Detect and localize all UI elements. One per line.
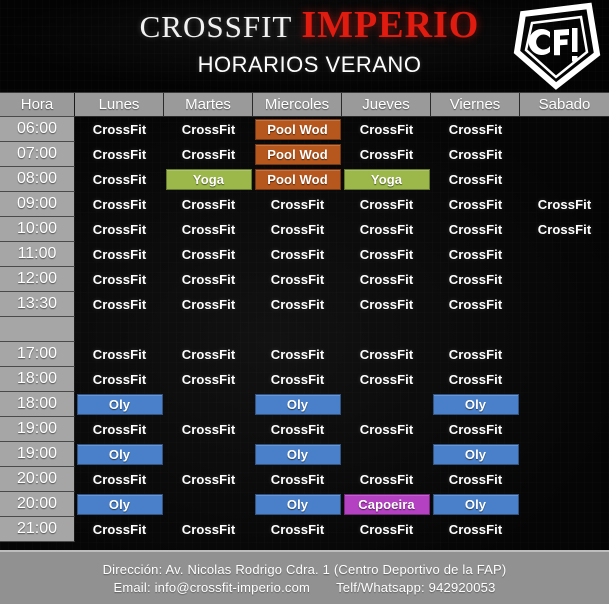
schedule-cell: CrossFit <box>164 417 253 442</box>
schedule-cell: CrossFit <box>253 342 342 367</box>
schedule-cell: Capoeira <box>342 492 431 517</box>
column-header-martes: Martes <box>164 93 253 117</box>
hour-label: 18:00 <box>0 367 75 392</box>
schedule-cell: CrossFit <box>253 267 342 292</box>
schedule-cell: CrossFit <box>342 292 431 317</box>
hour-label: 08:00 <box>0 167 75 192</box>
class-chip-crossfit[interactable]: CrossFit <box>344 419 430 440</box>
class-chip-crossfit[interactable]: CrossFit <box>433 244 519 265</box>
class-chip-crossfit[interactable]: CrossFit <box>166 219 252 240</box>
class-chip-crossfit[interactable]: CrossFit <box>255 519 341 540</box>
class-chip-capoeira[interactable]: Capoeira <box>344 494 430 515</box>
class-chip-crossfit[interactable]: CrossFit <box>255 419 341 440</box>
hour-label: 13:30 <box>0 292 75 317</box>
schedule-cell: CrossFit <box>431 242 520 267</box>
class-chip-oly[interactable]: Oly <box>77 494 163 515</box>
schedule-cell: CrossFit <box>431 367 520 392</box>
schedule-row: 06:00CrossFitCrossFitPool WodCrossFitCro… <box>0 117 609 142</box>
class-chip-crossfit[interactable]: CrossFit <box>344 269 430 290</box>
class-chip-crossfit[interactable]: CrossFit <box>77 369 163 390</box>
class-chip-oly[interactable]: Oly <box>433 394 519 415</box>
schedule-cell <box>164 392 253 417</box>
class-chip-empty <box>77 319 163 340</box>
class-chip-empty <box>344 394 430 415</box>
schedule-cell <box>520 317 609 342</box>
schedule-cell: CrossFit <box>431 267 520 292</box>
schedule-cell: CrossFit <box>75 367 164 392</box>
schedule-cell: CrossFit <box>431 167 520 192</box>
schedule-cell: CrossFit <box>75 192 164 217</box>
class-chip-empty <box>522 169 608 190</box>
schedule-cell: CrossFit <box>164 217 253 242</box>
class-chip-crossfit[interactable]: CrossFit <box>522 219 608 240</box>
class-chip-oly[interactable]: Oly <box>255 394 341 415</box>
class-chip-empty <box>522 144 608 165</box>
schedule-cell: CrossFit <box>342 367 431 392</box>
schedule-row: 08:00CrossFitYogaPool WodYogaCrossFit <box>0 167 609 192</box>
class-chip-empty <box>522 444 608 465</box>
class-chip-crossfit[interactable]: CrossFit <box>166 294 252 315</box>
class-chip-crossfit[interactable]: CrossFit <box>344 469 430 490</box>
schedule-cell <box>253 317 342 342</box>
class-chip-crossfit[interactable]: CrossFit <box>255 269 341 290</box>
class-chip-yoga[interactable]: Yoga <box>166 169 252 190</box>
schedule-cell: CrossFit <box>431 217 520 242</box>
class-chip-empty <box>522 469 608 490</box>
schedule-cell: Yoga <box>164 167 253 192</box>
class-chip-crossfit[interactable]: CrossFit <box>166 144 252 165</box>
schedule-row: 09:00CrossFitCrossFitCrossFitCrossFitCro… <box>0 192 609 217</box>
schedule-cell <box>431 317 520 342</box>
class-chip-empty <box>522 119 608 140</box>
class-chip-empty <box>522 369 608 390</box>
class-chip-pool-wod[interactable]: Pool Wod <box>255 144 341 165</box>
hour-label: 11:00 <box>0 242 75 267</box>
schedule-row: 07:00CrossFitCrossFitPool WodCrossFitCro… <box>0 142 609 167</box>
hour-label: 10:00 <box>0 217 75 242</box>
schedule-row: 19:00CrossFitCrossFitCrossFitCrossFitCro… <box>0 417 609 442</box>
class-chip-crossfit[interactable]: CrossFit <box>77 519 163 540</box>
class-chip-crossfit[interactable]: CrossFit <box>344 119 430 140</box>
schedule-row: 13:30CrossFitCrossFitCrossFitCrossFitCro… <box>0 292 609 317</box>
hour-label: 17:00 <box>0 342 75 367</box>
schedule-cell: Oly <box>253 442 342 467</box>
poster-header: CROSSFITIMPERIO HORARIOS VERANO <box>0 0 609 92</box>
schedule-cell: CrossFit <box>75 417 164 442</box>
schedule-cell: CrossFit <box>75 167 164 192</box>
schedule-cell: Oly <box>253 492 342 517</box>
footer-address: Dirección: Av. Nicolas Rodrigo Cdra. 1 (… <box>103 562 507 577</box>
schedule-cell: CrossFit <box>164 142 253 167</box>
class-chip-empty <box>522 519 608 540</box>
schedule-cell: CrossFit <box>75 267 164 292</box>
class-chip-crossfit[interactable]: CrossFit <box>166 419 252 440</box>
class-chip-crossfit[interactable]: CrossFit <box>166 244 252 265</box>
schedule-cell: Pool Wod <box>253 117 342 142</box>
class-chip-crossfit[interactable]: CrossFit <box>77 269 163 290</box>
schedule-row: 18:00OlyOlyOly <box>0 392 609 417</box>
schedule-cell: CrossFit <box>342 117 431 142</box>
schedule-cell: CrossFit <box>431 517 520 542</box>
schedule-cell <box>520 467 609 492</box>
schedule-row: 12:00CrossFitCrossFitCrossFitCrossFitCro… <box>0 267 609 292</box>
hour-label: 07:00 <box>0 142 75 167</box>
title-imperio: IMPERIO <box>301 4 479 46</box>
class-chip-crossfit[interactable]: CrossFit <box>433 519 519 540</box>
class-chip-crossfit[interactable]: CrossFit <box>344 244 430 265</box>
schedule-cell: CrossFit <box>75 117 164 142</box>
class-chip-empty <box>522 394 608 415</box>
schedule-cell: CrossFit <box>342 217 431 242</box>
class-chip-crossfit[interactable]: CrossFit <box>166 344 252 365</box>
schedule-row: 10:00CrossFitCrossFitCrossFitCrossFitCro… <box>0 217 609 242</box>
schedule-cell: CrossFit <box>164 242 253 267</box>
hour-label: 12:00 <box>0 267 75 292</box>
class-chip-crossfit[interactable]: CrossFit <box>77 194 163 215</box>
class-chip-crossfit[interactable]: CrossFit <box>77 119 163 140</box>
class-chip-oly[interactable]: Oly <box>255 494 341 515</box>
column-header-miercoles: Miercoles <box>253 93 342 117</box>
class-chip-empty <box>344 319 430 340</box>
class-chip-crossfit[interactable]: CrossFit <box>77 469 163 490</box>
class-chip-crossfit[interactable]: CrossFit <box>255 344 341 365</box>
schedule-cell: CrossFit <box>342 267 431 292</box>
schedule-cell: CrossFit <box>253 292 342 317</box>
schedule-cell: CrossFit <box>431 142 520 167</box>
schedule-cell <box>520 367 609 392</box>
class-chip-crossfit[interactable]: CrossFit <box>433 344 519 365</box>
class-chip-crossfit[interactable]: CrossFit <box>77 419 163 440</box>
schedule-cell <box>520 167 609 192</box>
schedule-poster: CROSSFITIMPERIO HORARIOS VERANO Hor <box>0 0 609 604</box>
schedule-row: 19:00OlyOlyOly <box>0 442 609 467</box>
class-chip-crossfit[interactable]: CrossFit <box>433 469 519 490</box>
class-chip-crossfit[interactable]: CrossFit <box>77 244 163 265</box>
schedule-cell: Oly <box>431 392 520 417</box>
class-chip-crossfit[interactable]: CrossFit <box>433 119 519 140</box>
schedule-cell <box>342 442 431 467</box>
schedule-cell: CrossFit <box>253 367 342 392</box>
class-chip-crossfit[interactable]: CrossFit <box>77 219 163 240</box>
column-header-jueves: Jueves <box>342 93 431 117</box>
schedule-cell <box>520 142 609 167</box>
class-chip-yoga[interactable]: Yoga <box>344 169 430 190</box>
column-header-hora: Hora <box>0 93 75 117</box>
class-chip-crossfit[interactable]: CrossFit <box>344 294 430 315</box>
cfi-shield-logo <box>509 2 603 90</box>
class-chip-crossfit[interactable]: CrossFit <box>166 119 252 140</box>
schedule-cell: CrossFit <box>253 217 342 242</box>
schedule-cell: CrossFit <box>342 242 431 267</box>
hour-label: 21:00 <box>0 517 75 542</box>
class-chip-empty <box>522 319 608 340</box>
schedule-cell: CrossFit <box>253 517 342 542</box>
class-chip-crossfit[interactable]: CrossFit <box>433 169 519 190</box>
schedule-cell <box>520 267 609 292</box>
schedule-cell: CrossFit <box>75 342 164 367</box>
schedule-cell: CrossFit <box>342 417 431 442</box>
schedule-cell: CrossFit <box>75 517 164 542</box>
schedule-row: 21:00CrossFitCrossFitCrossFitCrossFitCro… <box>0 517 609 542</box>
schedule-cell: Oly <box>431 492 520 517</box>
schedule-cell: CrossFit <box>164 267 253 292</box>
schedule-cell: CrossFit <box>164 192 253 217</box>
schedule-cell: CrossFit <box>342 342 431 367</box>
footer-phone[interactable]: Telf/Whatsapp: 942920053 <box>336 580 495 595</box>
schedule-cell <box>520 117 609 142</box>
class-chip-crossfit[interactable]: CrossFit <box>255 219 341 240</box>
class-chip-crossfit[interactable]: CrossFit <box>344 194 430 215</box>
schedule-cell: CrossFit <box>431 417 520 442</box>
schedule-cell <box>342 392 431 417</box>
schedule-cell <box>520 442 609 467</box>
class-chip-crossfit[interactable]: CrossFit <box>77 294 163 315</box>
class-chip-crossfit[interactable]: CrossFit <box>255 194 341 215</box>
schedule-cell: Pool Wod <box>253 167 342 192</box>
class-chip-oly[interactable]: Oly <box>433 444 519 465</box>
schedule-cell: Pool Wod <box>253 142 342 167</box>
class-chip-crossfit[interactable]: CrossFit <box>255 244 341 265</box>
class-chip-crossfit[interactable]: CrossFit <box>255 469 341 490</box>
class-chip-empty <box>522 244 608 265</box>
schedule-cell: CrossFit <box>342 192 431 217</box>
schedule-cell: CrossFit <box>164 467 253 492</box>
schedule-cell: CrossFit <box>253 242 342 267</box>
class-chip-oly[interactable]: Oly <box>255 444 341 465</box>
schedule-cell: CrossFit <box>253 467 342 492</box>
schedule-row: 17:00CrossFitCrossFitCrossFitCrossFitCro… <box>0 342 609 367</box>
schedule-cell: CrossFit <box>75 217 164 242</box>
class-chip-empty <box>166 444 252 465</box>
schedule-cell <box>520 342 609 367</box>
schedule-table: HoraLunesMartesMiercolesJuevesViernesSab… <box>0 92 609 550</box>
schedule-cell <box>520 392 609 417</box>
class-chip-empty <box>433 319 519 340</box>
schedule-cell: CrossFit <box>164 517 253 542</box>
schedule-row: 11:00CrossFitCrossFitCrossFitCrossFitCro… <box>0 242 609 267</box>
schedule-header-row: HoraLunesMartesMiercolesJuevesViernesSab… <box>0 93 609 117</box>
footer-email[interactable]: Email: info@crossfit-imperio.com <box>113 580 310 595</box>
schedule-cell: Oly <box>75 442 164 467</box>
class-chip-empty <box>522 419 608 440</box>
schedule-cell <box>342 317 431 342</box>
schedule-cell <box>164 442 253 467</box>
schedule-cell: CrossFit <box>431 342 520 367</box>
schedule-cell: CrossFit <box>342 467 431 492</box>
column-header-viernes: Viernes <box>431 93 520 117</box>
column-header-sabado: Sabado <box>520 93 609 117</box>
schedule-cell <box>520 417 609 442</box>
class-chip-oly[interactable]: Oly <box>77 394 163 415</box>
class-chip-crossfit[interactable]: CrossFit <box>166 269 252 290</box>
schedule-cell <box>520 242 609 267</box>
schedule-row <box>0 317 609 342</box>
schedule-cell <box>164 317 253 342</box>
schedule-cell <box>164 492 253 517</box>
schedule-cell: CrossFit <box>520 217 609 242</box>
class-chip-crossfit[interactable]: CrossFit <box>344 344 430 365</box>
class-chip-crossfit[interactable]: CrossFit <box>77 169 163 190</box>
schedule-cell <box>520 517 609 542</box>
schedule-cell: CrossFit <box>431 467 520 492</box>
class-chip-crossfit[interactable]: CrossFit <box>77 144 163 165</box>
class-chip-crossfit[interactable]: CrossFit <box>522 194 608 215</box>
hour-label: 19:00 <box>0 442 75 467</box>
schedule-cell: CrossFit <box>431 192 520 217</box>
hour-label: 06:00 <box>0 117 75 142</box>
schedule-cell: CrossFit <box>253 417 342 442</box>
class-chip-crossfit[interactable]: CrossFit <box>344 519 430 540</box>
class-chip-crossfit[interactable]: CrossFit <box>433 419 519 440</box>
column-header-lunes: Lunes <box>75 93 164 117</box>
class-chip-empty <box>522 294 608 315</box>
class-chip-crossfit[interactable]: CrossFit <box>344 369 430 390</box>
class-chip-empty <box>344 444 430 465</box>
class-chip-empty <box>166 494 252 515</box>
schedule-cell: CrossFit <box>431 292 520 317</box>
schedule-cell: Oly <box>75 392 164 417</box>
class-chip-empty <box>522 344 608 365</box>
class-chip-crossfit[interactable]: CrossFit <box>77 344 163 365</box>
schedule-cell: CrossFit <box>253 192 342 217</box>
class-chip-crossfit[interactable]: CrossFit <box>255 369 341 390</box>
hour-label: 19:00 <box>0 417 75 442</box>
schedule-cell: Oly <box>253 392 342 417</box>
hour-label <box>0 317 75 342</box>
class-chip-crossfit[interactable]: CrossFit <box>433 194 519 215</box>
schedule-row: 18:00CrossFitCrossFitCrossFitCrossFitCro… <box>0 367 609 392</box>
class-chip-pool-wod[interactable]: Pool Wod <box>255 169 341 190</box>
schedule-cell: CrossFit <box>75 292 164 317</box>
poster-footer: Dirección: Av. Nicolas Rodrigo Cdra. 1 (… <box>0 550 609 604</box>
hour-label: 09:00 <box>0 192 75 217</box>
title-crossfit: CROSSFIT <box>140 9 293 44</box>
schedule-cell: CrossFit <box>342 517 431 542</box>
class-chip-pool-wod[interactable]: Pool Wod <box>255 119 341 140</box>
class-chip-crossfit[interactable]: CrossFit <box>255 294 341 315</box>
class-chip-oly[interactable]: Oly <box>433 494 519 515</box>
class-chip-crossfit[interactable]: CrossFit <box>166 469 252 490</box>
class-chip-crossfit[interactable]: CrossFit <box>433 219 519 240</box>
schedule-cell: Oly <box>75 492 164 517</box>
class-chip-crossfit[interactable]: CrossFit <box>433 294 519 315</box>
hour-label: 20:00 <box>0 467 75 492</box>
schedule-cell: CrossFit <box>164 117 253 142</box>
class-chip-crossfit[interactable]: CrossFit <box>433 144 519 165</box>
hour-label: 18:00 <box>0 392 75 417</box>
class-chip-crossfit[interactable]: CrossFit <box>166 369 252 390</box>
class-chip-crossfit[interactable]: CrossFit <box>166 194 252 215</box>
class-chip-empty <box>166 319 252 340</box>
schedule-cell: CrossFit <box>431 117 520 142</box>
class-chip-empty <box>255 319 341 340</box>
class-chip-empty <box>522 494 608 515</box>
schedule-cell: CrossFit <box>342 142 431 167</box>
schedule-cell: Yoga <box>342 167 431 192</box>
class-chip-empty <box>522 269 608 290</box>
schedule-cell <box>75 317 164 342</box>
class-chip-crossfit[interactable]: CrossFit <box>166 519 252 540</box>
schedule-cell <box>520 492 609 517</box>
schedule-row: 20:00CrossFitCrossFitCrossFitCrossFitCro… <box>0 467 609 492</box>
schedule-cell: CrossFit <box>164 342 253 367</box>
schedule-cell: CrossFit <box>75 242 164 267</box>
schedule-cell <box>520 292 609 317</box>
schedule-cell: CrossFit <box>164 367 253 392</box>
schedule-cell: CrossFit <box>164 292 253 317</box>
class-chip-empty <box>166 394 252 415</box>
class-chip-oly[interactable]: Oly <box>77 444 163 465</box>
schedule-cell: CrossFit <box>520 192 609 217</box>
schedule-row: 20:00OlyOlyCapoeiraOly <box>0 492 609 517</box>
class-chip-crossfit[interactable]: CrossFit <box>344 144 430 165</box>
class-chip-crossfit[interactable]: CrossFit <box>433 369 519 390</box>
schedule-cell: Oly <box>431 442 520 467</box>
schedule-cell: CrossFit <box>75 142 164 167</box>
hour-label: 20:00 <box>0 492 75 517</box>
class-chip-crossfit[interactable]: CrossFit <box>433 269 519 290</box>
schedule-cell: CrossFit <box>75 467 164 492</box>
class-chip-crossfit[interactable]: CrossFit <box>344 219 430 240</box>
